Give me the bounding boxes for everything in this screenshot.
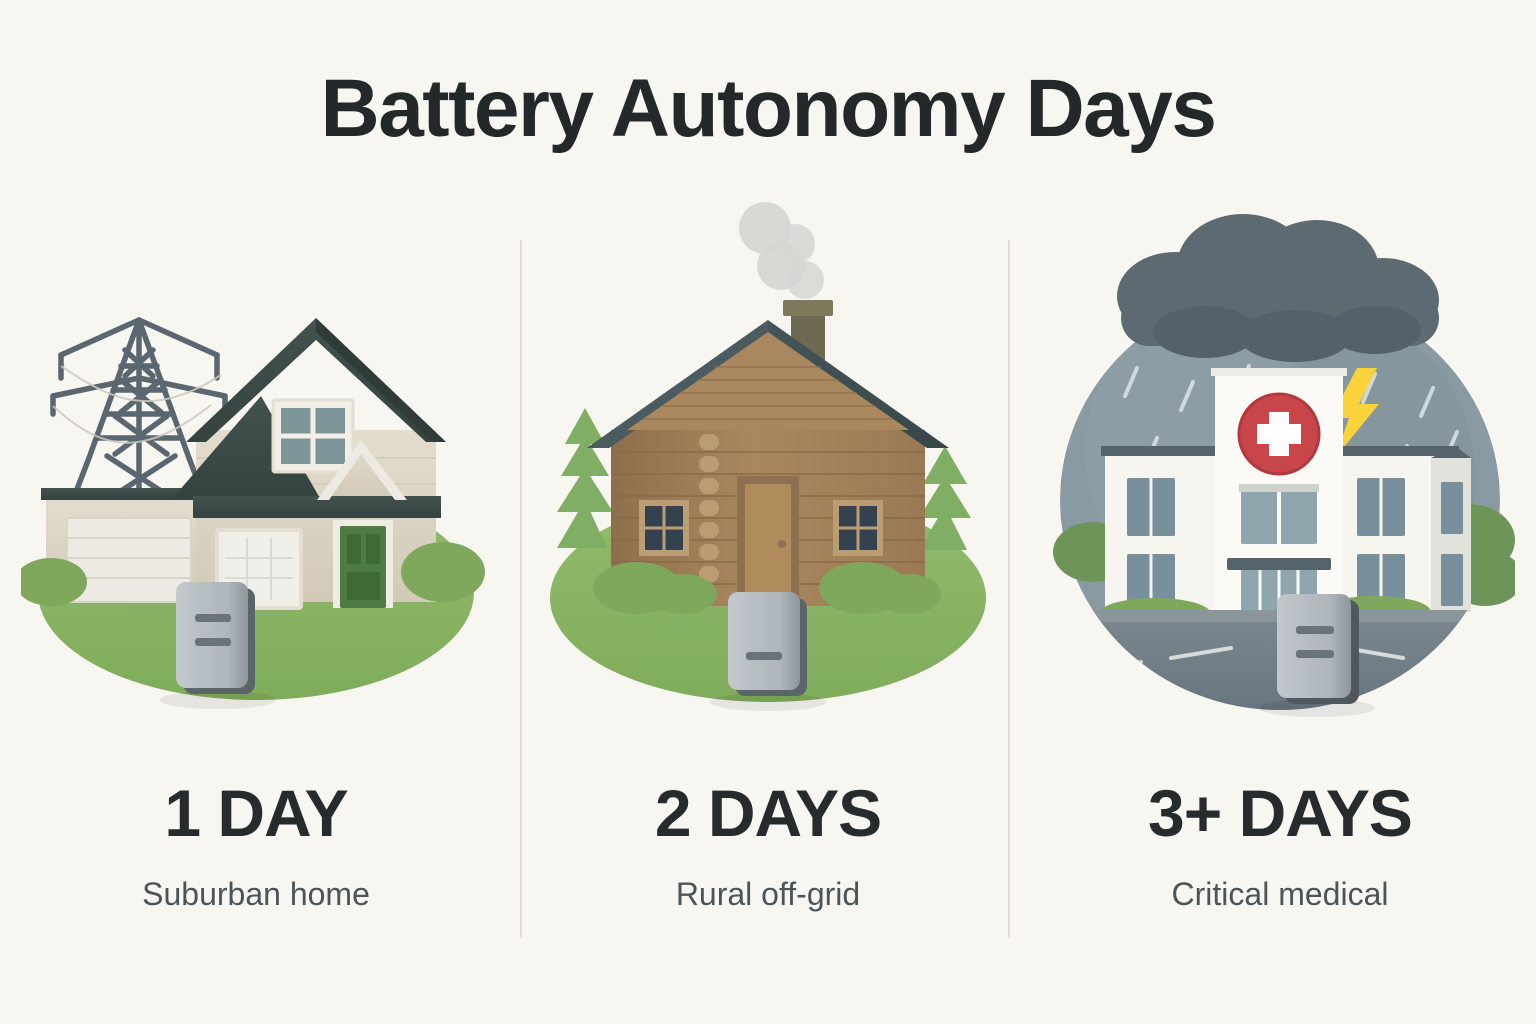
columns-container: 1 DAY Suburban home (0, 200, 1536, 960)
caption-medical: Critical medical (1024, 878, 1536, 910)
door-knob (778, 540, 786, 548)
chimney-smoke (739, 202, 824, 299)
pine-tree-left (557, 408, 613, 548)
caption-rural: Rural off-grid (512, 878, 1024, 910)
days-value-rural: 2 DAYS (512, 780, 1024, 846)
bush-right (401, 542, 485, 602)
column-suburban-home: 1 DAY Suburban home (0, 200, 512, 960)
garage-door (67, 518, 191, 602)
suburban-home-scene (21, 200, 491, 740)
entrance-canopy (1227, 558, 1331, 570)
critical-medical-scene (1045, 200, 1515, 740)
column-critical-medical: 3+ DAYS Critical medical (1024, 200, 1536, 960)
page-title: Battery Autonomy Days (0, 68, 1536, 150)
chimney-cap (783, 300, 833, 316)
days-value-medical: 3+ DAYS (1024, 780, 1536, 846)
rural-cabin-scene (533, 200, 1003, 740)
caption-suburban: Suburban home (0, 878, 512, 910)
column-rural-offgrid: 2 DAYS Rural off-grid (512, 200, 1024, 960)
storm-cloud (1117, 214, 1439, 362)
days-value-suburban: 1 DAY (0, 780, 512, 846)
